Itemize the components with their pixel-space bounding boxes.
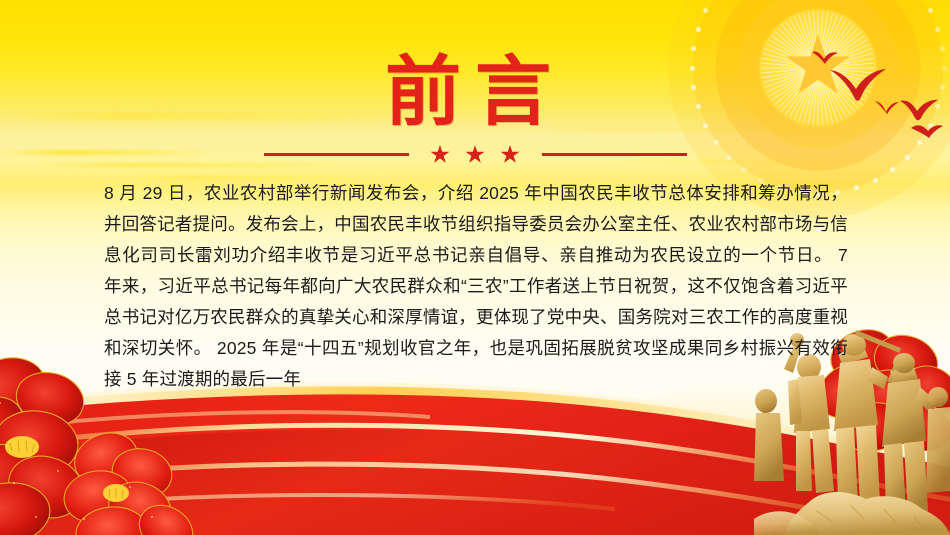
divider-star-icon <box>466 145 485 164</box>
slide-canvas: 前言 8 月 29 日，农业农村部举行新闻发布会，介绍 2025 年中国农民丰收… <box>0 0 950 535</box>
page-title: 前言 <box>0 52 950 134</box>
divider-star-icon <box>431 145 450 164</box>
title-divider <box>0 145 950 164</box>
body-paragraph: 8 月 29 日，农业农村部举行新闻发布会，介绍 2025 年中国农民丰收节总体… <box>104 178 848 395</box>
divider-line-left <box>264 153 409 156</box>
title-block: 前言 <box>0 52 950 134</box>
divider-line-right <box>542 153 687 156</box>
divider-star-icon <box>501 145 520 164</box>
divider-stars <box>431 145 520 164</box>
